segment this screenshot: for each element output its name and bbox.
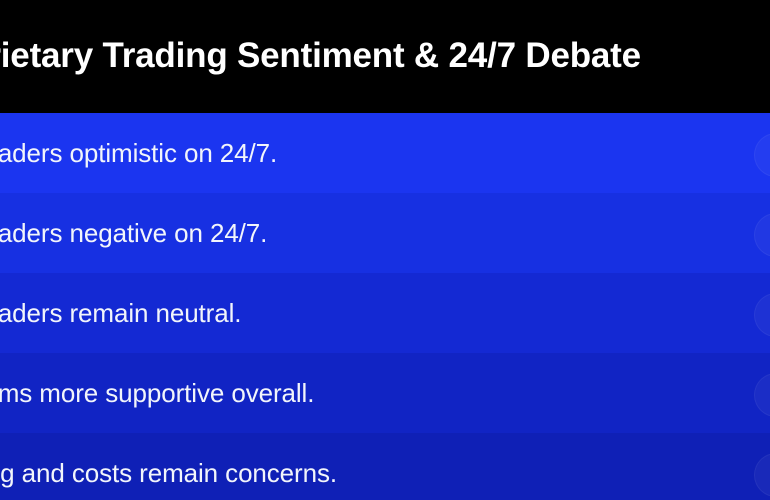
page-title: oprietary Trading Sentiment & 24/7 Debat… bbox=[0, 34, 770, 78]
list-item[interactable]: S firms more supportive overall. bbox=[0, 353, 770, 433]
presentation-slide: oprietary Trading Sentiment & 24/7 Debat… bbox=[0, 0, 770, 500]
list-item-label: affing and costs remain concerns. bbox=[0, 433, 770, 500]
list-item-label: % traders remain neutral. bbox=[0, 273, 770, 353]
bullet-list: % traders optimistic on 24/7. % traders … bbox=[0, 113, 770, 500]
list-item-label: S firms more supportive overall. bbox=[0, 353, 770, 433]
list-item[interactable]: affing and costs remain concerns. bbox=[0, 433, 770, 500]
list-item[interactable]: % traders optimistic on 24/7. bbox=[0, 113, 770, 193]
list-item-label: % traders negative on 24/7. bbox=[0, 193, 770, 273]
list-item-label: % traders optimistic on 24/7. bbox=[0, 113, 770, 193]
slide-header: oprietary Trading Sentiment & 24/7 Debat… bbox=[0, 0, 770, 113]
list-item[interactable]: % traders remain neutral. bbox=[0, 273, 770, 353]
list-item[interactable]: % traders negative on 24/7. bbox=[0, 193, 770, 273]
